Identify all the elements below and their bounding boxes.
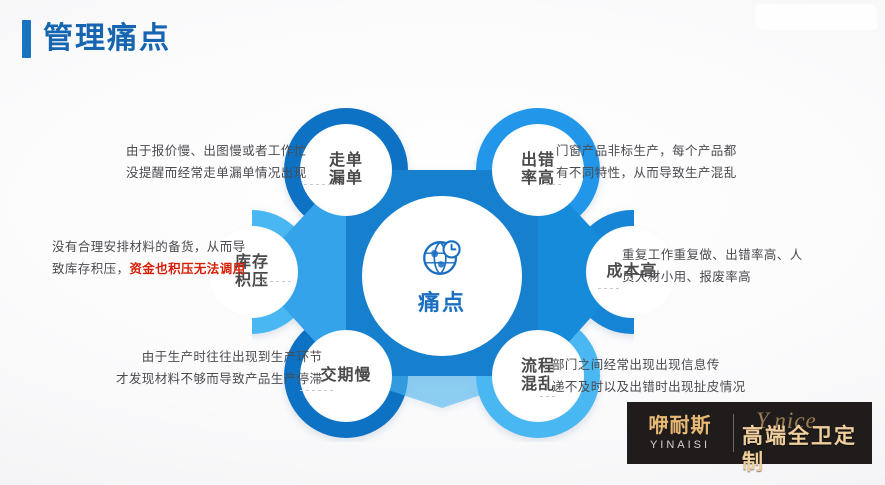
callout-zoudan: 由于报价慢、出图慢或者工作忙 没提醒而经常走单漏单情况出现: [126, 140, 307, 184]
callout-line2: 没提醒而经常走单漏单情况出现: [126, 162, 307, 184]
callout-line2: 递不及时以及出错时出现扯皮情况: [552, 376, 746, 398]
leader-line-chengben: [598, 288, 620, 289]
node-zoudan-loudan[interactable]: 走单 漏单: [300, 124, 392, 216]
header: 管理痛点: [0, 0, 885, 78]
callout-line1: 门窗产品非标生产，每个产品都: [556, 140, 737, 162]
title-accent-bar: [22, 20, 31, 58]
node-label-line2: 漏单: [329, 170, 363, 188]
globe-clock-icon: [419, 235, 465, 281]
leader-line-liucheng: [540, 396, 558, 397]
brand-logo: 咿耐斯 YINAISI Y.nice 高端全卫定制: [627, 402, 872, 464]
callout-line1: 部门之间经常出现出现信息传: [552, 354, 746, 376]
logo-brand-cn: 咿耐斯: [649, 415, 712, 437]
callout-chengben: 重复工作重复做、出错率高、人 员大材小用、报废率高: [622, 244, 803, 288]
callout-kucun: 没有合理安排材料的备货，从而导 致库存积压，资金也积压无法调用: [52, 236, 246, 280]
callout-highlight: 资金也积压无法调用: [129, 262, 245, 276]
logo-slogan-block: Y.nice 高端全卫定制: [734, 402, 872, 464]
logo-brand-en: YINAISI: [650, 439, 710, 452]
node-label-line1: 出错: [521, 152, 555, 170]
callout-line1: 由于报价慢、出图慢或者工作忙: [126, 140, 307, 162]
node-label-line2: 混乱: [521, 376, 555, 394]
callout-line1: 没有合理安排材料的备货，从而导: [52, 236, 246, 258]
logo-slogan-text: 高端全卫定制: [742, 424, 872, 476]
leader-line-chucuo: [540, 184, 562, 185]
center-label: 痛点: [418, 285, 466, 317]
callout-line2: 员大材小用、报废率高: [622, 266, 803, 288]
leader-line-kucun: [258, 281, 292, 282]
callout-chucuo: 门窗产品非标生产，每个产品都 有不同特性，从而导致生产混乱: [556, 140, 737, 184]
page-title: 管理痛点: [43, 20, 171, 58]
callout-line2: 有不同特性，从而导致生产混乱: [556, 162, 737, 184]
callout-line2-text: 致库存积压，: [52, 262, 129, 276]
node-label-line1: 交期慢: [320, 367, 371, 385]
node-label-line1: 走单: [329, 152, 363, 170]
callout-liucheng: 部门之间经常出现出现信息传 递不及时以及出错时出现扯皮情况: [552, 354, 746, 398]
callout-line2: 致库存积压，资金也积压无法调用: [52, 258, 246, 280]
callout-line1: 由于生产时往往出现到生产环节: [116, 346, 322, 368]
leader-line-jiaoqi: [300, 390, 334, 391]
node-label-line1: 流程: [521, 358, 555, 376]
center-hub: 痛点: [374, 208, 510, 344]
white-brush-mark: [755, 4, 877, 30]
logo-brand-block: 咿耐斯 YINAISI: [627, 415, 733, 452]
node-label-line2: 率高: [521, 170, 555, 188]
callout-line2: 才发现材料不够而导致产品生产停滞: [116, 368, 322, 390]
callout-jiaoqi: 由于生产时往往出现到生产环节 才发现材料不够而导致产品生产停滞: [116, 346, 322, 390]
callout-line1: 重复工作重复做、出错率高、人: [622, 244, 803, 266]
leader-line-zoudan: [304, 184, 340, 185]
